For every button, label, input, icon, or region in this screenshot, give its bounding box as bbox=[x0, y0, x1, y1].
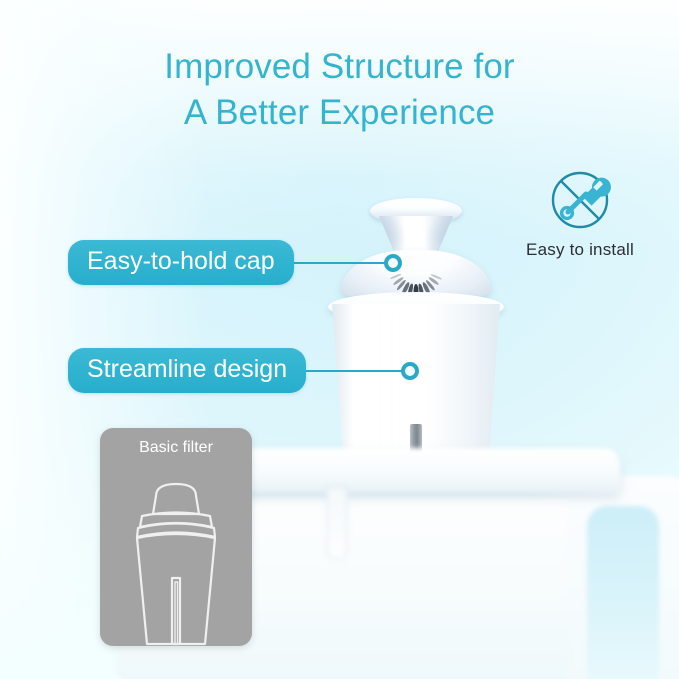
pitcher-notch bbox=[326, 486, 348, 560]
page-title: Improved Structure for A Better Experien… bbox=[0, 44, 679, 136]
basic-filter-label: Basic filter bbox=[100, 439, 252, 457]
callout-label: Easy-to-hold cap bbox=[68, 240, 294, 285]
basic-filter-illustration bbox=[100, 458, 252, 646]
callout-leader-line bbox=[294, 262, 385, 264]
product-feature-graphic: Improved Structure for A Better Experien… bbox=[0, 0, 679, 679]
pitcher-handle-opening bbox=[587, 506, 659, 679]
no-tools-wrench-icon bbox=[548, 168, 612, 232]
callout-streamline-design[interactable]: Streamline design bbox=[68, 348, 419, 393]
callout-label: Streamline design bbox=[68, 348, 306, 393]
callout-leader-line bbox=[306, 370, 402, 372]
callout-marker-dot bbox=[384, 254, 402, 272]
easy-to-install-label: Easy to install bbox=[500, 240, 660, 260]
callout-marker-dot bbox=[401, 362, 419, 380]
cap-highlight bbox=[383, 200, 449, 212]
callout-easy-to-hold-cap[interactable]: Easy-to-hold cap bbox=[68, 240, 402, 285]
basic-filter-inset: Basic filter bbox=[100, 428, 252, 646]
easy-to-install-feature: Easy to install bbox=[500, 168, 660, 260]
